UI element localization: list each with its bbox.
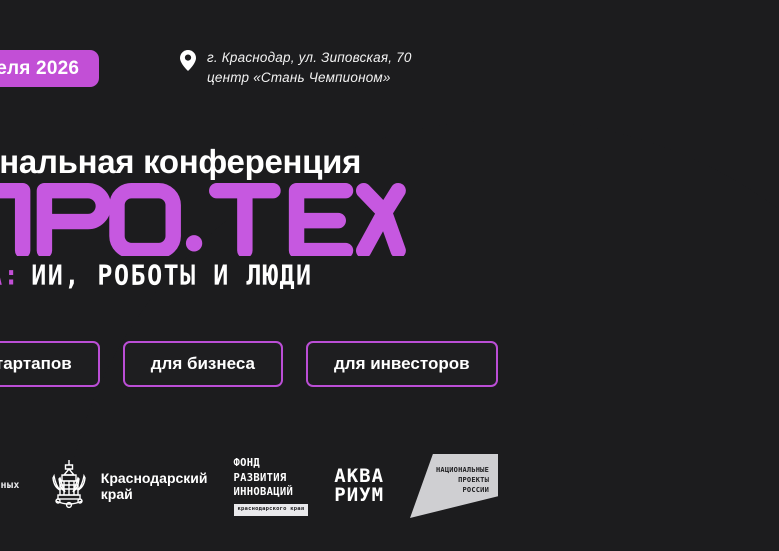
- audience-button-group: ля стартапов для бизнеса для инвесторов: [0, 341, 498, 387]
- date-badge: апреля 2026: [0, 50, 99, 87]
- natproj-line-2: ПРОЕКТЫ: [436, 475, 489, 485]
- natproj-line-1: НАЦИОНАЛЬНЫЕ: [436, 465, 489, 475]
- partner-logo-national-projects: НАЦИОНАЛЬНЫЕ ПРОЕКТЫ РОССИИ: [410, 448, 498, 524]
- location-block: г. Краснодар, ул. Зиповская, 70 центр «С…: [180, 48, 412, 87]
- location-line-2: центр «Стань Чемпионом»: [207, 68, 412, 88]
- audience-button-business[interactable]: для бизнеса: [123, 341, 283, 387]
- natproj-line-3: РОССИИ: [436, 485, 489, 495]
- partner-logo-platform: нка вационных тапов: [0, 448, 20, 524]
- page-title-kicker: гиональная конференция: [0, 143, 361, 181]
- theme-value: ИИ, РОБОТЫ И ЛЮДИ: [31, 259, 312, 291]
- protech-logo: [0, 178, 430, 256]
- circuit-rect: [424, 18, 498, 38]
- location-line-1: г. Краснодар, ул. Зиповская, 70: [207, 48, 412, 68]
- circuit-rect: [612, 18, 626, 40]
- platform-line-3: тапов: [0, 493, 20, 508]
- fond-line-1: ФОНД: [234, 456, 309, 470]
- circuit-rect: [492, 18, 650, 40]
- krasnodar-line-1: Краснодарский: [101, 470, 208, 486]
- date-badge-label: апреля 2026: [0, 58, 79, 80]
- fond-line-3: ИННОВАЦИЙ: [234, 485, 309, 499]
- fond-line-2: РАЗВИТИЯ: [234, 471, 309, 485]
- partner-logo-aquarium: АКВА РИУМ: [334, 448, 384, 524]
- circuit-rect: [456, 18, 476, 92]
- aqua-line-2: РИУМ: [334, 486, 384, 505]
- theme-label: ЕМА:: [0, 259, 20, 291]
- circuit-rect: [474, 70, 779, 100]
- audience-button-investors[interactable]: для инвесторов: [306, 341, 498, 387]
- partner-logo-fond: ФОНД РАЗВИТИЯ ИННОВАЦИЙ краснодарского к…: [234, 448, 309, 524]
- fond-subtitle: краснодарского края: [234, 504, 309, 516]
- partner-logo-krasnodar: Краснодарский край: [46, 448, 208, 524]
- krasnodar-coat-of-arms-icon: [46, 458, 92, 515]
- circuit-rect: [543, 18, 617, 38]
- circuit-rect: [635, 18, 779, 38]
- platform-line-1: нка: [0, 464, 20, 479]
- map-pin-icon: [180, 50, 196, 76]
- circuit-rect: [405, 2, 433, 30]
- conference-banner: апреля 2026 г. Краснодар, ул. Зиповская,…: [0, 0, 779, 551]
- partner-logo-strip: нка вационных тапов: [0, 448, 498, 524]
- theme-row: ЕМА: ИИ, РОБОТЫ И ЛЮДИ: [0, 262, 313, 291]
- location-text: г. Краснодар, ул. Зиповская, 70 центр «С…: [207, 48, 412, 87]
- krasnodar-line-2: край: [101, 486, 208, 502]
- platform-line-2: вационных: [0, 479, 20, 494]
- audience-button-startups[interactable]: ля стартапов: [0, 341, 100, 387]
